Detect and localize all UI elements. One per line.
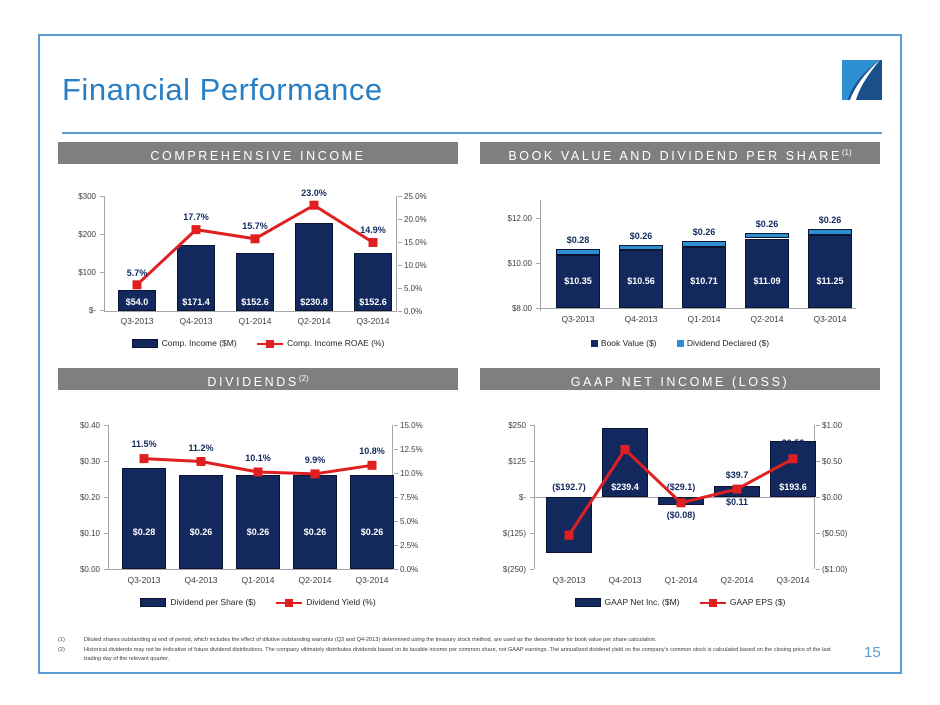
x-axis-category-label: Q4-2013 (175, 575, 227, 585)
page-title: Financial Performance (62, 72, 383, 108)
chart-book-value-dividend: $12.00 $10.00 $8.00 $10.35 $10.56 $10.71… (480, 186, 880, 374)
company-logo-icon (840, 58, 884, 102)
line-value-label: 10.1% (232, 453, 284, 463)
legend-swatch-line-icon (276, 598, 302, 607)
legend-label: GAAP EPS ($) (730, 597, 786, 607)
footnote-marker: (2) (58, 646, 84, 665)
chart-gaap-net-income: $250 $125 $- $(125) $(250) $1.00 $0.50 $… (480, 412, 880, 640)
x-axis-baseline (540, 308, 856, 309)
legend-label: Book Value ($) (601, 338, 657, 348)
y-axis-tick (536, 263, 540, 264)
chart-dividends: $0.40 $0.30 $0.20 $0.10 $0.00 15.0% 12.5… (58, 412, 458, 640)
legend-item-dividend-per-share: Dividend per Share ($) (140, 597, 256, 607)
x-axis-category-label: Q3-2013 (542, 575, 596, 585)
bar-dividend-declared (808, 229, 852, 235)
legend-swatch-line-icon (700, 598, 726, 607)
bar-dividend-declared (682, 241, 726, 247)
legend-swatch-line-icon (257, 339, 283, 348)
legend-swatch-bar-icon (132, 339, 158, 348)
footnote-row: (1) Diluted shares outstanding at end of… (58, 636, 848, 646)
legend-label: GAAP Net Inc. ($M) (605, 597, 680, 607)
legend-label: Comp. Income ROAE (%) (287, 338, 384, 348)
legend-item-gaap-eps: GAAP EPS ($) (700, 597, 786, 607)
line-value-label: 14.9% (349, 225, 397, 235)
line-value-label: 17.7% (172, 212, 220, 222)
x-axis-category-label: Q1-2014 (654, 575, 708, 585)
line-value-label: 23.0% (290, 188, 338, 198)
panel-title-text: COMPREHENSIVE INCOME (150, 149, 365, 163)
panel-gaap-net-income: GAAP NET INCOME (LOSS) $250 $125 $- $(12… (480, 368, 880, 618)
bar-value-label: $10.56 (615, 276, 667, 286)
legend-item-comp-income: Comp. Income ($M) (132, 338, 237, 348)
line-value-label: $0.66 (598, 430, 652, 440)
x-axis-category-label: Q3-2013 (118, 575, 170, 585)
x-axis-category-label: Q3-2014 (349, 316, 397, 326)
slide-frame: Financial Performance COMPREHENSIVE INCO… (38, 34, 902, 674)
stack-value-label: $0.26 (678, 227, 730, 237)
panel-title-text: BOOK VALUE AND DIVIDEND PER SHARE (508, 149, 842, 163)
panel-dividends: DIVIDENDS(2) $0.40 $0.30 $0.20 $0.10 $0.… (58, 368, 458, 618)
chart-legend: Comp. Income ($M) Comp. Income ROAE (%) (58, 338, 458, 348)
x-axis-category-label: Q3-2013 (552, 314, 604, 324)
y-axis-label-left: $10.00 (488, 259, 532, 268)
x-axis-category-label: Q2-2014 (710, 575, 764, 585)
line-value-label: ($0.53) (542, 541, 596, 551)
stack-value-label: $0.26 (741, 219, 793, 229)
x-axis-category-label: Q1-2014 (678, 314, 730, 324)
line-value-label: $0.53 (766, 438, 820, 448)
x-axis-category-label: Q2-2014 (290, 316, 338, 326)
chart-legend: Book Value ($) Dividend Declared ($) (480, 338, 880, 348)
x-axis-category-label: Q3-2014 (346, 575, 398, 585)
x-axis-category-label: Q4-2013 (172, 316, 220, 326)
legend-label: Dividend Yield (%) (306, 597, 375, 607)
legend-item-dividend-yield: Dividend Yield (%) (276, 597, 375, 607)
footnotes: (1) Diluted shares outstanding at end of… (58, 636, 848, 665)
line-value-label: 10.8% (346, 446, 398, 456)
legend-swatch-bar-icon (140, 598, 166, 607)
legend-swatch-bar-light-icon (677, 340, 684, 347)
x-axis-category-label: Q3-2013 (113, 316, 161, 326)
y-axis-label-left: $12.00 (488, 214, 532, 223)
bar-value-label: $10.35 (552, 276, 604, 286)
chart-legend: Dividend per Share ($) Dividend Yield (%… (58, 597, 458, 607)
bar-book-value (808, 235, 852, 308)
panel-header-book-value-dividend: BOOK VALUE AND DIVIDEND PER SHARE(1) (480, 142, 880, 164)
panel-comprehensive-income: COMPREHENSIVE INCOME $300 $200 $100 $- 2… (58, 142, 458, 352)
x-axis-category-label: Q4-2013 (598, 575, 652, 585)
line-value-label: 11.5% (118, 439, 170, 449)
legend-item-dividend-declared: Dividend Declared ($) (677, 338, 769, 348)
x-axis-category-label: Q2-2014 (741, 314, 793, 324)
legend-item-comp-income-roae: Comp. Income ROAE (%) (257, 338, 384, 348)
bar-value-label: $10.71 (678, 276, 730, 286)
panel-header-dividends: DIVIDENDS(2) (58, 368, 458, 390)
y-axis-spine-left (540, 200, 541, 311)
x-axis-category-label: Q1-2014 (231, 316, 279, 326)
x-axis-category-label: Q4-2013 (615, 314, 667, 324)
panel-title-text: GAAP NET INCOME (LOSS) (571, 375, 790, 389)
legend-swatch-bar-icon (591, 340, 598, 347)
footnote-marker: (1) (58, 636, 84, 646)
line-value-label: 15.7% (231, 221, 279, 231)
footnote-text: Diluted shares outstanding at end of per… (84, 636, 848, 646)
legend-swatch-bar-icon (575, 598, 601, 607)
legend-label: Comp. Income ($M) (162, 338, 237, 348)
y-axis-label-left: $8.00 (488, 304, 532, 313)
x-axis-category-label: Q3-2014 (804, 314, 856, 324)
line-value-label: 9.9% (289, 455, 341, 465)
line-value-label: ($0.08) (654, 510, 708, 520)
bar-value-label: $11.09 (741, 276, 793, 286)
chart-legend: GAAP Net Inc. ($M) GAAP EPS ($) (480, 597, 880, 607)
legend-item-book-value: Book Value ($) (591, 338, 657, 348)
title-divider (62, 132, 882, 134)
y-axis-tick (536, 218, 540, 219)
panel-title-sup: (2) (299, 374, 309, 383)
page-number: 15 (864, 644, 881, 661)
panel-header-comprehensive-income: COMPREHENSIVE INCOME (58, 142, 458, 164)
x-axis-category-label: Q2-2014 (289, 575, 341, 585)
legend-item-gaap-net-inc: GAAP Net Inc. ($M) (575, 597, 680, 607)
panel-header-gaap-net-income: GAAP NET INCOME (LOSS) (480, 368, 880, 390)
legend-label: Dividend per Share ($) (170, 597, 256, 607)
bar-dividend-declared (556, 249, 600, 255)
line-value-label: $0.11 (710, 497, 764, 507)
x-axis-category-label: Q1-2014 (232, 575, 284, 585)
x-axis-category-label: Q3-2014 (766, 575, 820, 585)
panel-book-value-dividend: BOOK VALUE AND DIVIDEND PER SHARE(1) $12… (480, 142, 880, 352)
line-value-label: 11.2% (175, 443, 227, 453)
panel-title-text: DIVIDENDS (207, 375, 298, 389)
footnote-text: Historical dividends may not be indicati… (84, 646, 848, 665)
stack-value-label: $0.26 (804, 215, 856, 225)
stack-value-label: $0.26 (615, 231, 667, 241)
chart-comprehensive-income: $300 $200 $100 $- 25.0% 20.0% 15.0% 10.0… (58, 186, 458, 374)
bar-book-value (745, 239, 789, 309)
bar-dividend-declared (745, 233, 789, 239)
panel-title-sup: (1) (842, 148, 852, 157)
footnote-row: (2) Historical dividends may not be indi… (58, 646, 848, 665)
stack-value-label: $0.28 (552, 235, 604, 245)
legend-label: Dividend Declared ($) (687, 338, 769, 348)
bar-value-label: $11.25 (804, 276, 856, 286)
bar-dividend-declared (619, 245, 663, 251)
line-value-label: 5.7% (113, 268, 161, 278)
